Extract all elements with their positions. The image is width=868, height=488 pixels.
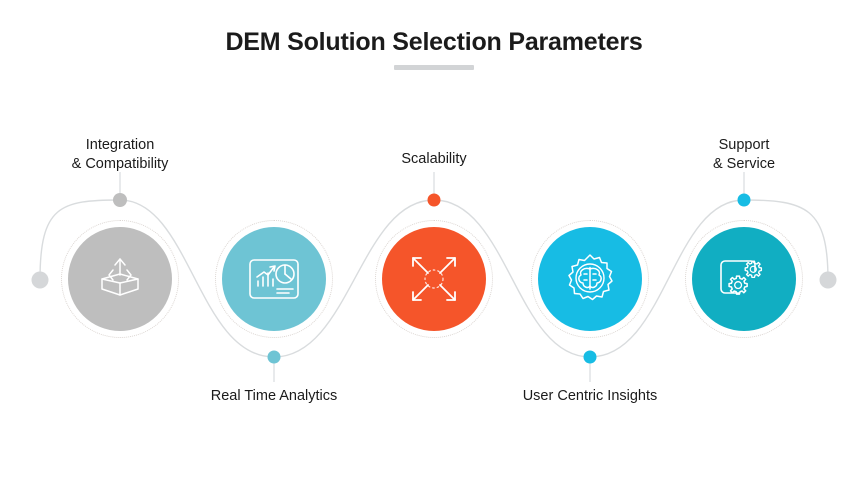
infographic-slide: DEM Solution Selection Parameters	[0, 0, 868, 488]
node-label-scalability: Scalability	[319, 150, 549, 169]
node-circle-real-time-analytics[interactable]	[222, 227, 326, 331]
node-dot-analytics	[268, 351, 281, 364]
node-dot-support	[738, 194, 751, 207]
node-dot-integration	[113, 193, 127, 207]
node-circle-support-service[interactable]	[692, 227, 796, 331]
package-code-icon	[94, 253, 146, 305]
endpoint-dot-end	[820, 272, 837, 289]
node-label-support-service: Support & Service	[629, 136, 859, 174]
node-circle-integration-compatibility[interactable]	[68, 227, 172, 331]
node-circle-scalability[interactable]	[382, 227, 486, 331]
screen-gears-icon	[717, 253, 771, 305]
node-label-real-time-analytics: Real Time Analytics	[159, 387, 389, 406]
node-label-user-centric-insights: User Centric Insights	[475, 387, 705, 406]
node-circle-user-centric-insights[interactable]	[538, 227, 642, 331]
endpoint-dot-start	[32, 272, 49, 289]
node-dot-insights	[584, 351, 597, 364]
expand-arrows-icon	[406, 251, 462, 307]
node-dot-scalability	[428, 194, 441, 207]
brain-gear-icon	[564, 253, 616, 305]
analytics-dashboard-icon	[247, 255, 301, 303]
node-label-integration-compatibility: Integration & Compatibility	[5, 136, 235, 174]
